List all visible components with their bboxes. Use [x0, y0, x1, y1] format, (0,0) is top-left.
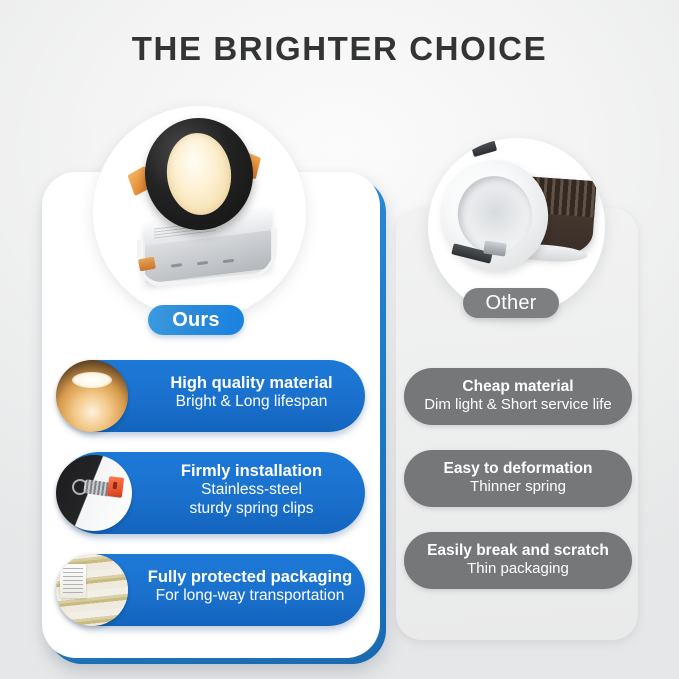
carton-label-icon	[60, 564, 86, 598]
ours-feature-2-thumbnail	[56, 455, 132, 531]
other-feature-3-heading: Easily break and scratch	[427, 542, 609, 561]
other-feature-1-sub: Dim light & Short service life	[424, 396, 612, 415]
lamp-glow-icon	[72, 372, 112, 388]
page-title: THE BRIGHTER CHOICE	[0, 30, 679, 68]
ours-feature-2-heading: Firmly installation	[144, 462, 359, 481]
carton-label-lines	[63, 568, 83, 594]
ours-badge: Ours	[148, 305, 244, 335]
ours-feature-2-sub2: sturdy spring clips	[144, 500, 359, 519]
ours-feature-3-sub: For long-way transportation	[138, 587, 362, 606]
ours-feature-3-heading: Fully protected packaging	[138, 568, 362, 587]
other-feature-2-sub: Thinner spring	[470, 478, 566, 497]
ours-feature-1-thumbnail	[56, 360, 128, 432]
ours-feature-3-thumbnail	[56, 554, 128, 626]
downlight-warm-lens	[163, 130, 235, 218]
other-feature-pill-3[interactable]: Easily break and scratch Thin packaging	[404, 532, 632, 589]
mounting-bracket-icon	[471, 139, 497, 157]
ours-feature-1-sub: Bright & Long lifespan	[144, 393, 359, 412]
ours-feature-2-sub: Stainless-steel	[144, 481, 359, 500]
other-feature-2-heading: Easy to deformation	[444, 460, 593, 479]
ours-product-image	[93, 106, 306, 319]
other-feature-3-sub: Thin packaging	[467, 560, 569, 579]
ours-feature-1-heading: High quality material	[144, 374, 359, 393]
other-badge: Other	[463, 288, 559, 318]
clip-slot-icon	[113, 482, 118, 489]
white-cone-trim	[430, 149, 559, 281]
other-feature-1-heading: Cheap material	[462, 378, 573, 397]
other-feature-pill-2[interactable]: Easy to deformation Thinner spring	[404, 450, 632, 507]
comparison-infographic: THE BRIGHTER CHOICE Ours High quality ma…	[0, 0, 679, 679]
other-feature-pill-1[interactable]: Cheap material Dim light & Short service…	[404, 368, 632, 425]
